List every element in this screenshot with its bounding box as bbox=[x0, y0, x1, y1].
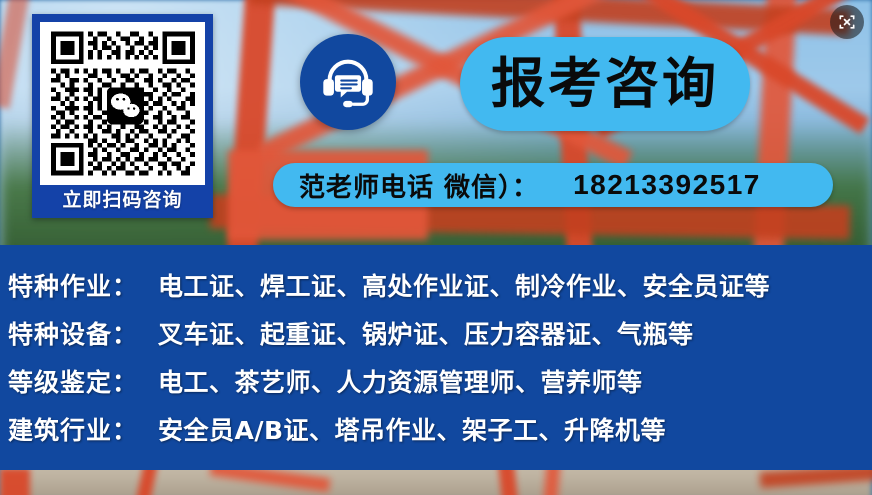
info-row-items: 叉车证、起重证、锅炉证、压力容器证、气瓶等 bbox=[158, 315, 694, 351]
info-row: 等级鉴定： 电工、茶艺师、人力资源管理师、营养师等 bbox=[8, 363, 872, 411]
phone-label: 范老师电话 微信）： bbox=[299, 167, 539, 204]
crane-beam bbox=[0, 468, 30, 495]
headset-chat-icon bbox=[317, 51, 379, 113]
phone-pill[interactable]: 范老师电话 微信）： 18213392517 bbox=[273, 163, 833, 207]
qr-card[interactable]: 立即扫码咨询 bbox=[32, 14, 213, 218]
info-row-items: 电工、茶艺师、人力资源管理师、营养师等 bbox=[158, 363, 643, 399]
info-row: 特种作业： 电工证、焊工证、高处作业证、制冷作业、安全员证等 bbox=[8, 267, 872, 315]
info-row: 特种设备： 叉车证、起重证、锅炉证、压力容器证、气瓶等 bbox=[8, 315, 872, 363]
qr-card-label: 立即扫码咨询 bbox=[35, 183, 210, 213]
expand-button[interactable] bbox=[830, 5, 864, 39]
info-row-items: 安全员A/B证、塔吊作业、架子工、升降机等 bbox=[158, 411, 666, 447]
wechat-qr-code-icon bbox=[46, 27, 200, 180]
phone-number[interactable]: 18213392517 bbox=[573, 169, 761, 201]
info-row-category: 建筑行业： bbox=[8, 411, 158, 447]
title-pill: 报考咨询 bbox=[460, 37, 750, 131]
info-row-category: 特种设备： bbox=[8, 315, 158, 351]
info-row: 建筑行业： 安全员A/B证、塔吊作业、架子工、升降机等 bbox=[8, 411, 872, 459]
info-panel: 特种作业： 电工证、焊工证、高处作业证、制冷作业、安全员证等 特种设备： 叉车证… bbox=[0, 245, 872, 470]
info-row-category: 等级鉴定： bbox=[8, 363, 158, 399]
info-row-items: 电工证、焊工证、高处作业证、制冷作业、安全员证等 bbox=[158, 267, 770, 303]
qr-code-area bbox=[40, 22, 205, 185]
promo-banner-root: 立即扫码咨询 报考咨询 范老师电话 微信）： 18213392517 bbox=[0, 0, 872, 495]
headset-badge bbox=[300, 34, 396, 130]
info-row-category: 特种作业： bbox=[8, 267, 158, 303]
title-text: 报考咨询 bbox=[491, 57, 719, 111]
expand-fullscreen-icon bbox=[837, 12, 857, 32]
